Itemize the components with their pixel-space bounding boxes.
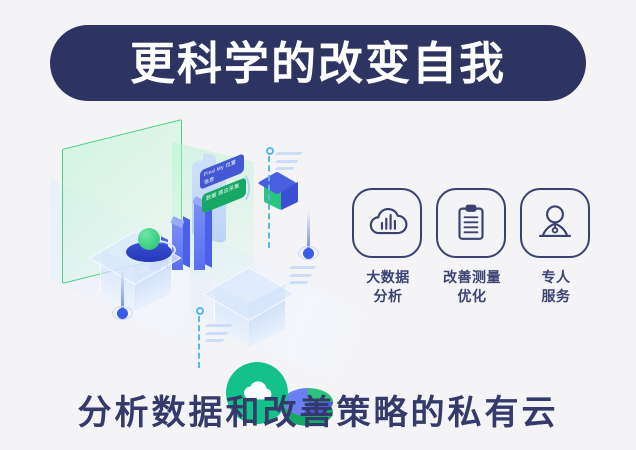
feature-label-line1: 专人: [520, 268, 592, 287]
green-sphere-indicator: [138, 228, 160, 250]
feature-label-line2: 分析: [352, 287, 424, 306]
feature-card-measurement[interactable]: [436, 188, 506, 258]
feature-label-service: 专人 服务: [520, 268, 592, 306]
feature-label-line2: 优化: [436, 287, 508, 306]
page-title: 更科学的改变自我: [130, 41, 506, 86]
clipboard-icon: [448, 200, 494, 246]
feature-list: 大数据 分析 改善测量 优化: [352, 188, 592, 306]
illustration: Find My 位置信息 数据 感应采集: [40, 120, 340, 370]
poster-canvas: 更科学的改变自我 Find My 位置信息 数据 感应采集: [0, 0, 636, 450]
service-person-icon: [532, 200, 578, 246]
feature-item-big-data[interactable]: 大数据 分析: [352, 188, 424, 306]
feature-label-line2: 服务: [520, 287, 592, 306]
dashed-connector-bottom: [198, 316, 200, 368]
feature-label-line1: 大数据: [352, 268, 424, 287]
header-banner: 更科学的改变自我: [50, 25, 586, 101]
decor-streaks-bottom: [206, 324, 236, 347]
decor-streaks-right: [290, 266, 320, 289]
dashed-connector-top: [268, 156, 270, 248]
decor-streaks-top: [276, 152, 306, 175]
feature-card-service[interactable]: [520, 188, 590, 258]
footer-subtitle: 分析数据和改善策略的私有云: [0, 385, 636, 434]
feature-item-measurement[interactable]: 改善测量 优化: [436, 188, 508, 306]
feature-card-big-data[interactable]: [352, 188, 422, 258]
feature-label-measurement: 改善测量 优化: [436, 268, 508, 306]
cloud-chart-icon: [364, 200, 410, 246]
feature-item-service[interactable]: 专人 服务: [520, 188, 592, 306]
feature-label-big-data: 大数据 分析: [352, 268, 424, 306]
feature-label-line1: 改善测量: [436, 268, 508, 287]
